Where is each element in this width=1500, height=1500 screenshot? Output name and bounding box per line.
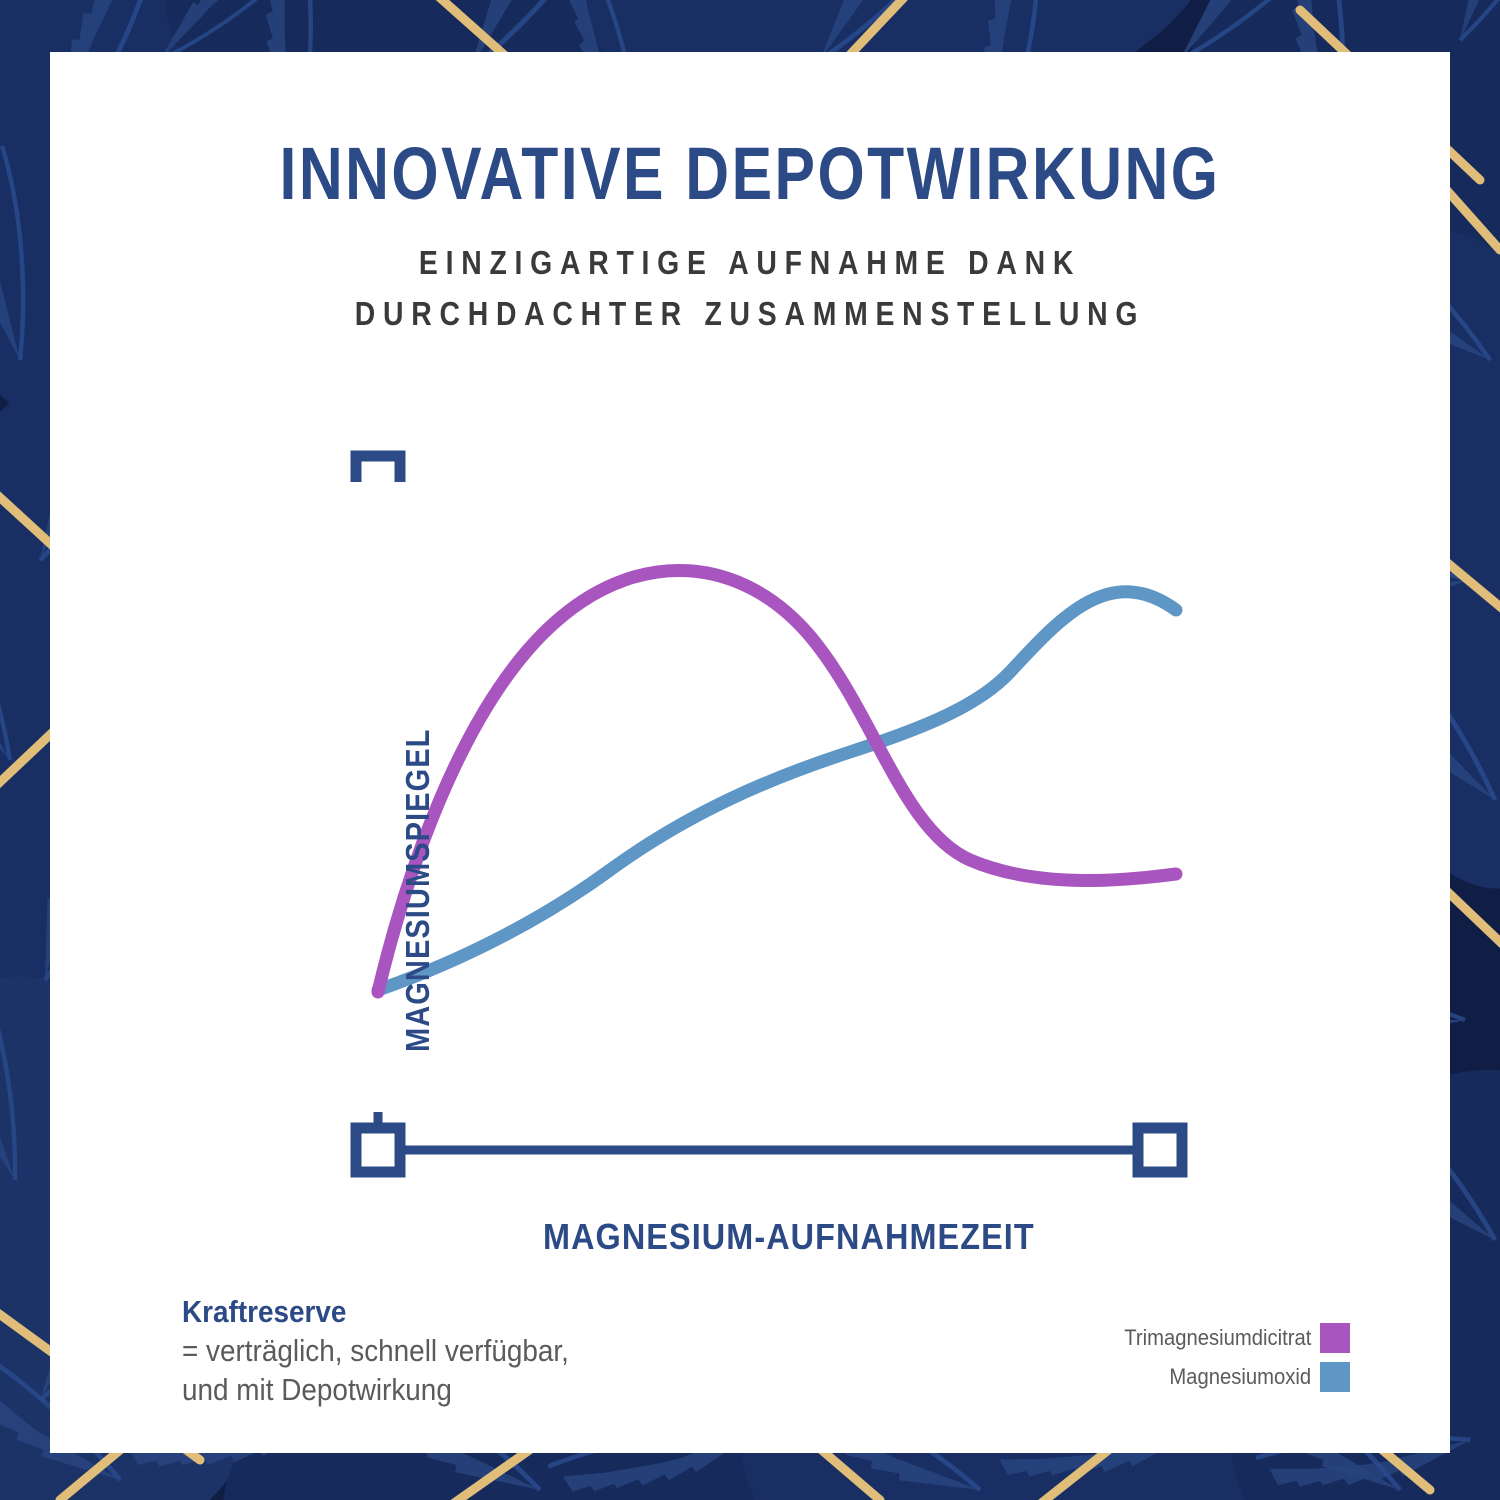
legend-label: Trimagnesiumdicitrat <box>1124 1325 1311 1351</box>
chart: MAGNESIUMSPIEGEL MAGNESIUM-AUFNAHMEZEIT <box>50 52 1450 1453</box>
note-line-1: = verträglich, schnell verfügbar, <box>182 1331 569 1370</box>
note-line-2: und mit Depotwirkung <box>182 1370 569 1409</box>
note-heading: Kraftreserve <box>182 1292 569 1331</box>
legend-swatch-purple <box>1320 1323 1350 1353</box>
content-card: INNOVATIVE DEPOTWIRKUNG EINZIGARTIGE AUF… <box>50 52 1450 1453</box>
legend-item-magnesiumoxid: Magnesiumoxid <box>1157 1362 1350 1392</box>
note-block: Kraftreserve = verträglich, schnell verf… <box>182 1292 612 1409</box>
chart-legend: Trimagnesiumdicitrat Magnesiumoxid <box>1108 1323 1350 1392</box>
y-axis-label: MAGNESIUMSPIEGEL <box>399 729 437 1052</box>
x-axis-label: MAGNESIUM-AUFNAHMEZEIT <box>543 1216 1035 1258</box>
poster-root: INNOVATIVE DEPOTWIRKUNG EINZIGARTIGE AUF… <box>0 0 1500 1500</box>
legend-swatch-blue <box>1320 1362 1350 1392</box>
legend-label: Magnesiumoxid <box>1169 1364 1311 1390</box>
legend-item-trimagnesiumdicitrat: Trimagnesiumdicitrat <box>1108 1323 1350 1353</box>
